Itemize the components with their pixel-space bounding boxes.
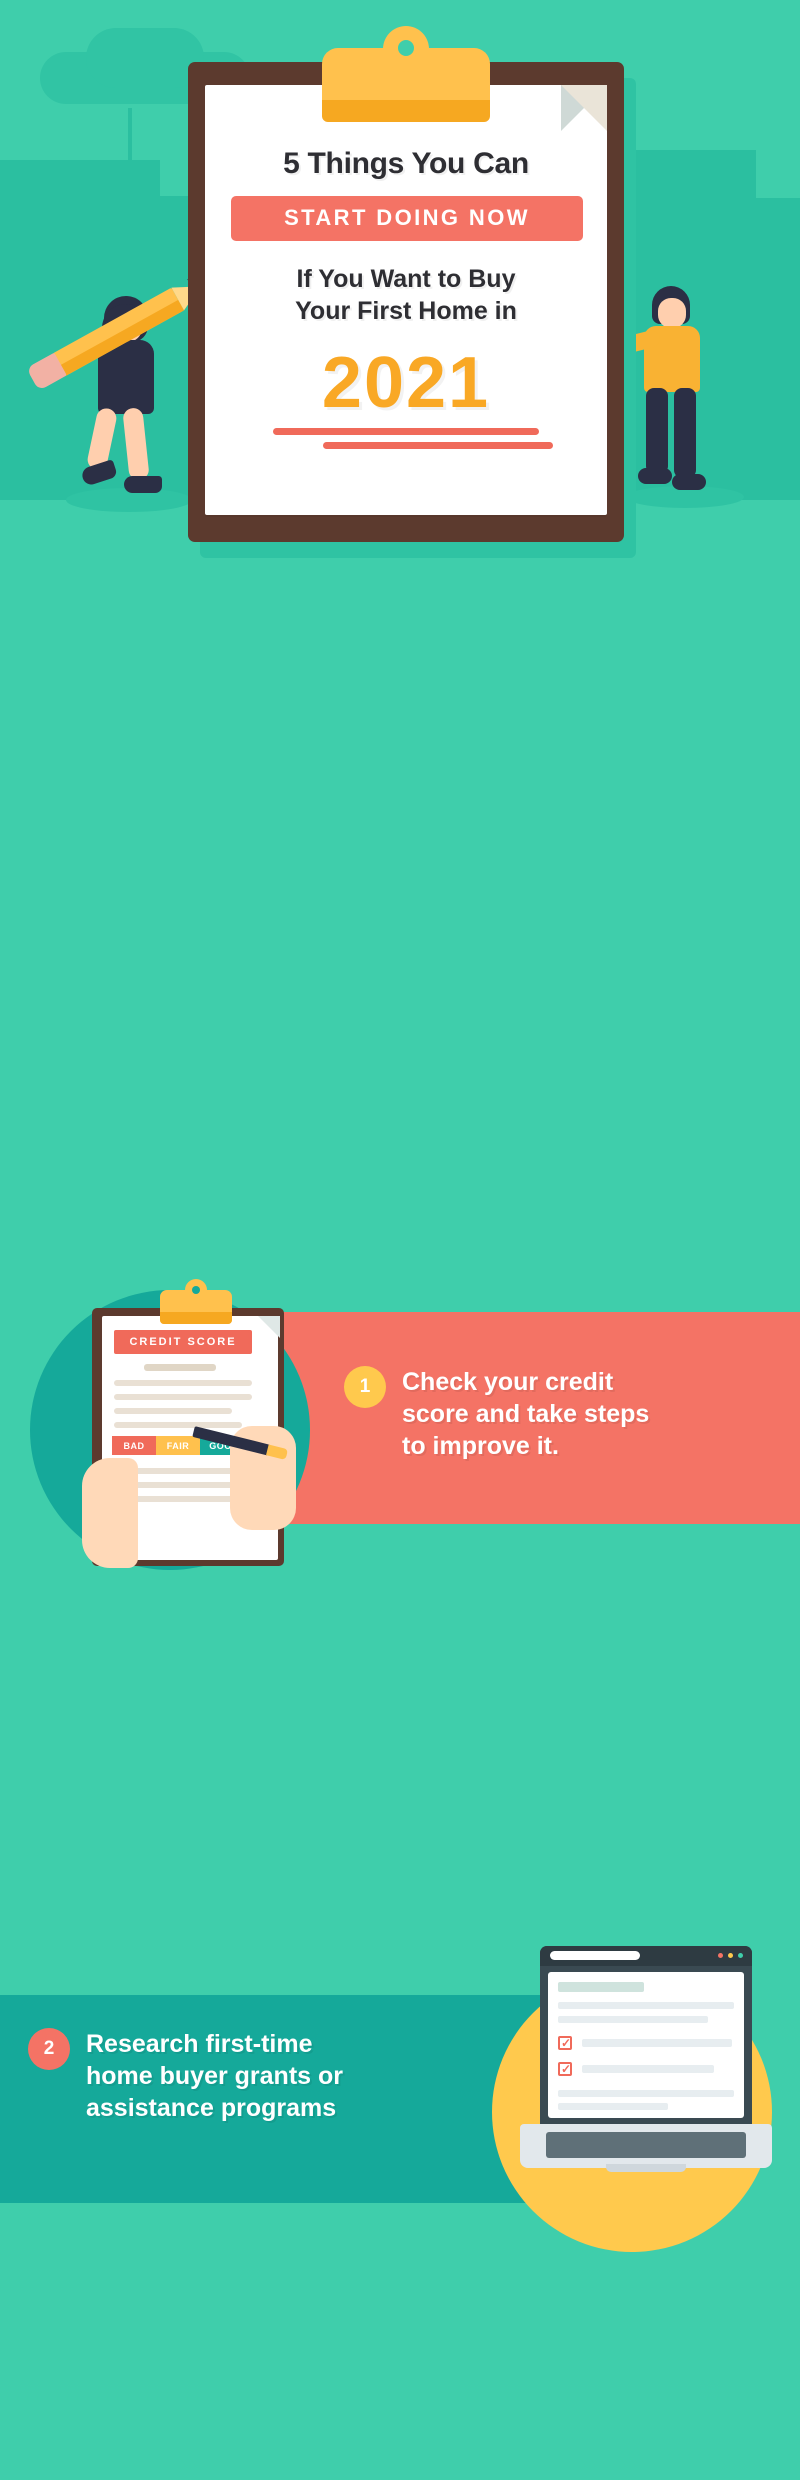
- face-shape: [658, 298, 686, 328]
- hero-subtitle-line-b: Your First Home in: [231, 295, 581, 328]
- hero-subtitle-line-a: If You Want to Buy: [231, 263, 581, 296]
- shoe-shape: [638, 468, 672, 484]
- hero-subtitle: If You Want to Buy Your First Home in: [231, 263, 581, 328]
- step-5: $ $ $ $ $ 500000: [0, 1950, 800, 2330]
- hero-underline-stroke: [323, 442, 553, 449]
- hero-badge: START DOING NOW: [231, 196, 583, 241]
- hero-clipboard: 5 Things You Can START DOING NOW If You …: [188, 62, 624, 542]
- clipboard-clip-hole: [394, 36, 418, 60]
- leg-shape: [674, 388, 696, 478]
- step-2: ✓ ✓ 2 Research first-time home buyer gra…: [0, 910, 800, 1250]
- shoe-shape: [80, 459, 118, 487]
- clipboard-paper: 5 Things You Can START DOING NOW If You …: [205, 85, 607, 515]
- leg-shape: [122, 407, 149, 481]
- shoe-shape: [124, 476, 162, 493]
- cloud-shape: [86, 28, 204, 88]
- person-man: [630, 286, 740, 516]
- step-3: 3 Shop for a lender and get pre-approved…: [0, 1250, 800, 1590]
- hero-year: 2021: [231, 342, 581, 424]
- hero-section: 5 Things You Can START DOING NOW If You …: [0, 0, 800, 590]
- step-4: 4 Find a local and knowledgeable real es…: [0, 1590, 800, 1950]
- hero-text-block: 5 Things You Can START DOING NOW If You …: [205, 147, 607, 449]
- paper-fold-icon: [561, 85, 607, 131]
- clipboard-clip-base: [322, 100, 490, 122]
- infographic-page: 5 Things You Can START DOING NOW If You …: [0, 0, 800, 2480]
- hero-title-line1: 5 Things You Can: [231, 147, 581, 182]
- hero-badge-label: START DOING NOW: [284, 205, 530, 230]
- shoe-shape: [672, 474, 706, 490]
- hero-underline-stroke: [273, 428, 539, 435]
- leg-shape: [646, 388, 668, 474]
- step-1: CREDIT SCORE BAD FAIR GOOD 1 Check your …: [0, 590, 800, 910]
